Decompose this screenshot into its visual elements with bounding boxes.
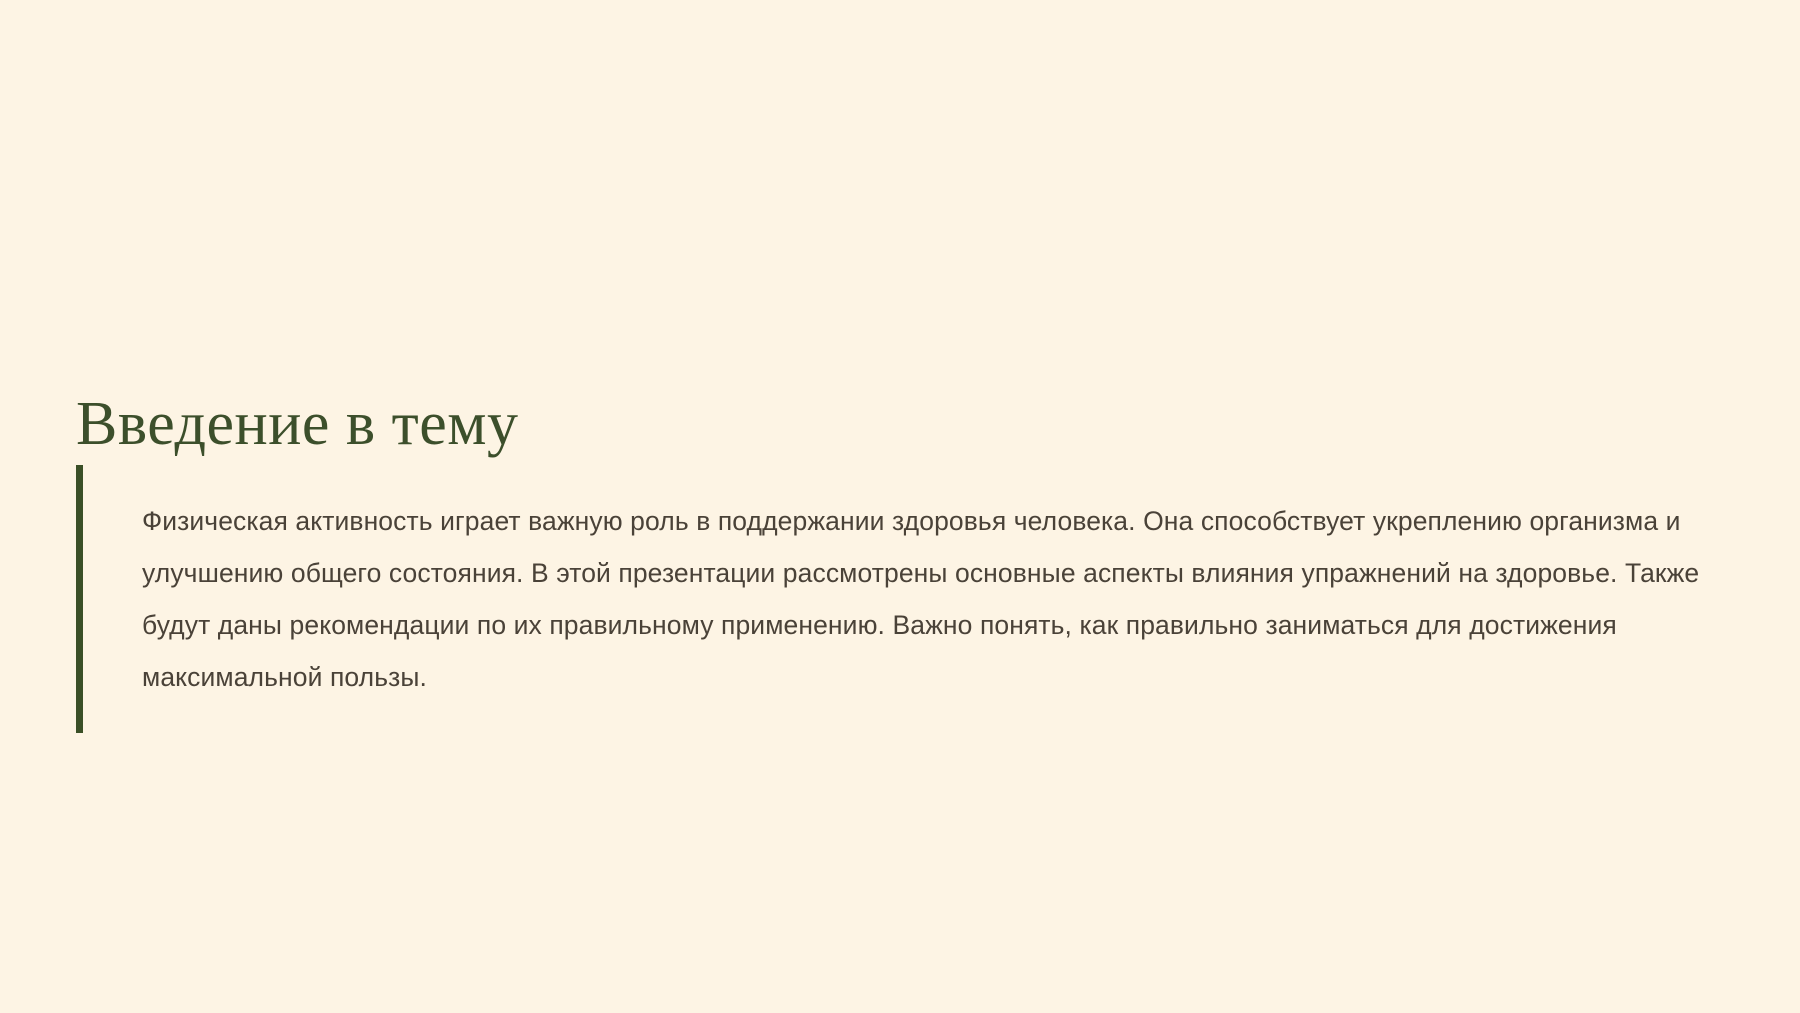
body-callout: Физическая активность играет важную роль… xyxy=(76,465,1736,733)
presentation-slide: Введение в тему Физическая активность иг… xyxy=(0,0,1800,1013)
body-paragraph: Физическая активность играет важную роль… xyxy=(83,492,1736,707)
page-title: Введение в тему xyxy=(76,390,519,458)
accent-bar xyxy=(76,465,83,733)
